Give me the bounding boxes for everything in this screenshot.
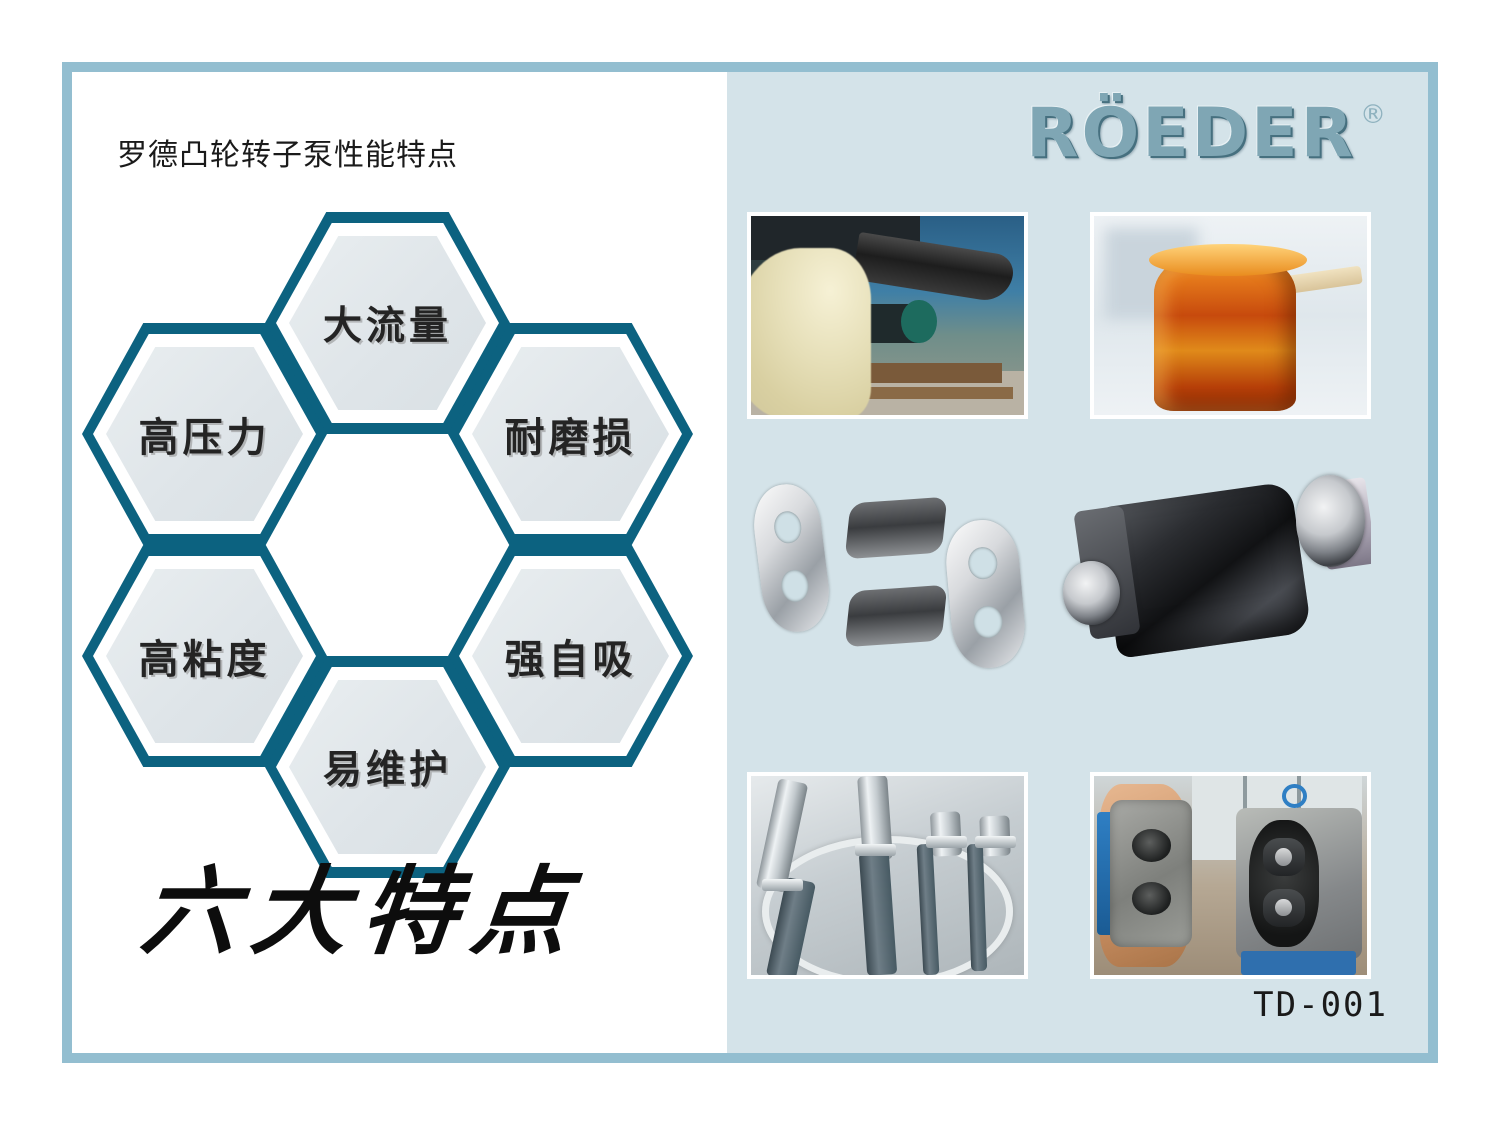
pipe-flange-3: [926, 836, 967, 848]
stainless-piping-photo: [747, 772, 1028, 979]
left-content-panel: 罗德凸轮转子泵性能特点 大流量 耐磨损 强自吸: [72, 72, 727, 1053]
high-flow-discharge-photo: [747, 212, 1028, 419]
feature-hex-wear[interactable]: 耐磨损: [448, 323, 693, 545]
plate-bore-upper: [773, 509, 804, 545]
cover-bore-upper: [1132, 829, 1171, 861]
brand-wordmark: RÖEDER: [1026, 94, 1356, 173]
plate-bore-lower: [972, 605, 1004, 640]
viscous-liquid-top: [1149, 244, 1307, 276]
pump-body-open: [1236, 808, 1362, 959]
plate-bore-lower: [780, 568, 811, 604]
bearing-left: [1063, 561, 1120, 625]
pipe-3-upper: [930, 811, 962, 856]
pump-cavity: [1249, 820, 1319, 947]
feature-hex-label-wear: 耐磨损: [448, 323, 693, 545]
slogan-block: 六大特点: [142, 862, 662, 992]
rotor-lobe-upper: [845, 497, 947, 560]
bearing-right: [1296, 475, 1365, 567]
pipe-flange-4: [975, 836, 1016, 848]
registered-trademark-icon: ®: [1360, 100, 1386, 130]
rotor-wear-plates-render: [747, 472, 1028, 672]
photo-content: [747, 472, 1028, 672]
cover-bore-lower: [1132, 882, 1171, 914]
pump-maintenance-photo: [1090, 772, 1371, 979]
cam-rotor-assembly-render: [1057, 457, 1371, 687]
viscous-amber-liquid-photo: [1090, 212, 1371, 419]
page-title: 罗德凸轮转子泵性能特点: [117, 130, 458, 174]
rotor-lobe-lower: [845, 585, 947, 648]
brand-logo: RÖEDER ®: [1026, 94, 1386, 173]
feature-hex-label-pressure: 高压力: [82, 323, 327, 545]
rotor-hub-upper: [1275, 848, 1292, 866]
photo-content: [1094, 216, 1367, 415]
lifting-eyebolt-icon: [1282, 784, 1307, 808]
pump-base-blue: [1241, 951, 1356, 975]
feature-hex-viscosity[interactable]: 高粘度: [82, 545, 327, 767]
feature-hex-pressure[interactable]: 高压力: [82, 323, 327, 545]
feature-hex-label-viscosity: 高粘度: [82, 545, 327, 767]
model-code-label: TD-001: [1253, 985, 1388, 1025]
pipe-flange-2: [855, 844, 896, 856]
plate-bore-upper: [967, 546, 999, 581]
liquid-flow-stream: [747, 248, 871, 419]
photo-content: [751, 216, 1024, 415]
pipe-flange-1: [762, 879, 803, 891]
feature-honeycomb-diagram: 大流量 耐磨损 强自吸 易维护: [82, 212, 707, 852]
photo-content: [751, 776, 1024, 975]
photo-content: [1094, 776, 1367, 975]
pump-cover-plate: [1110, 800, 1192, 947]
viscous-liquid-sheet: [1154, 252, 1296, 411]
right-media-panel: RÖEDER ®: [727, 72, 1428, 1053]
slide-frame: 罗德凸轮转子泵性能特点 大流量 耐磨损 强自吸: [62, 62, 1438, 1063]
pulley-wheel: [901, 300, 936, 344]
photo-content: [1057, 457, 1371, 687]
